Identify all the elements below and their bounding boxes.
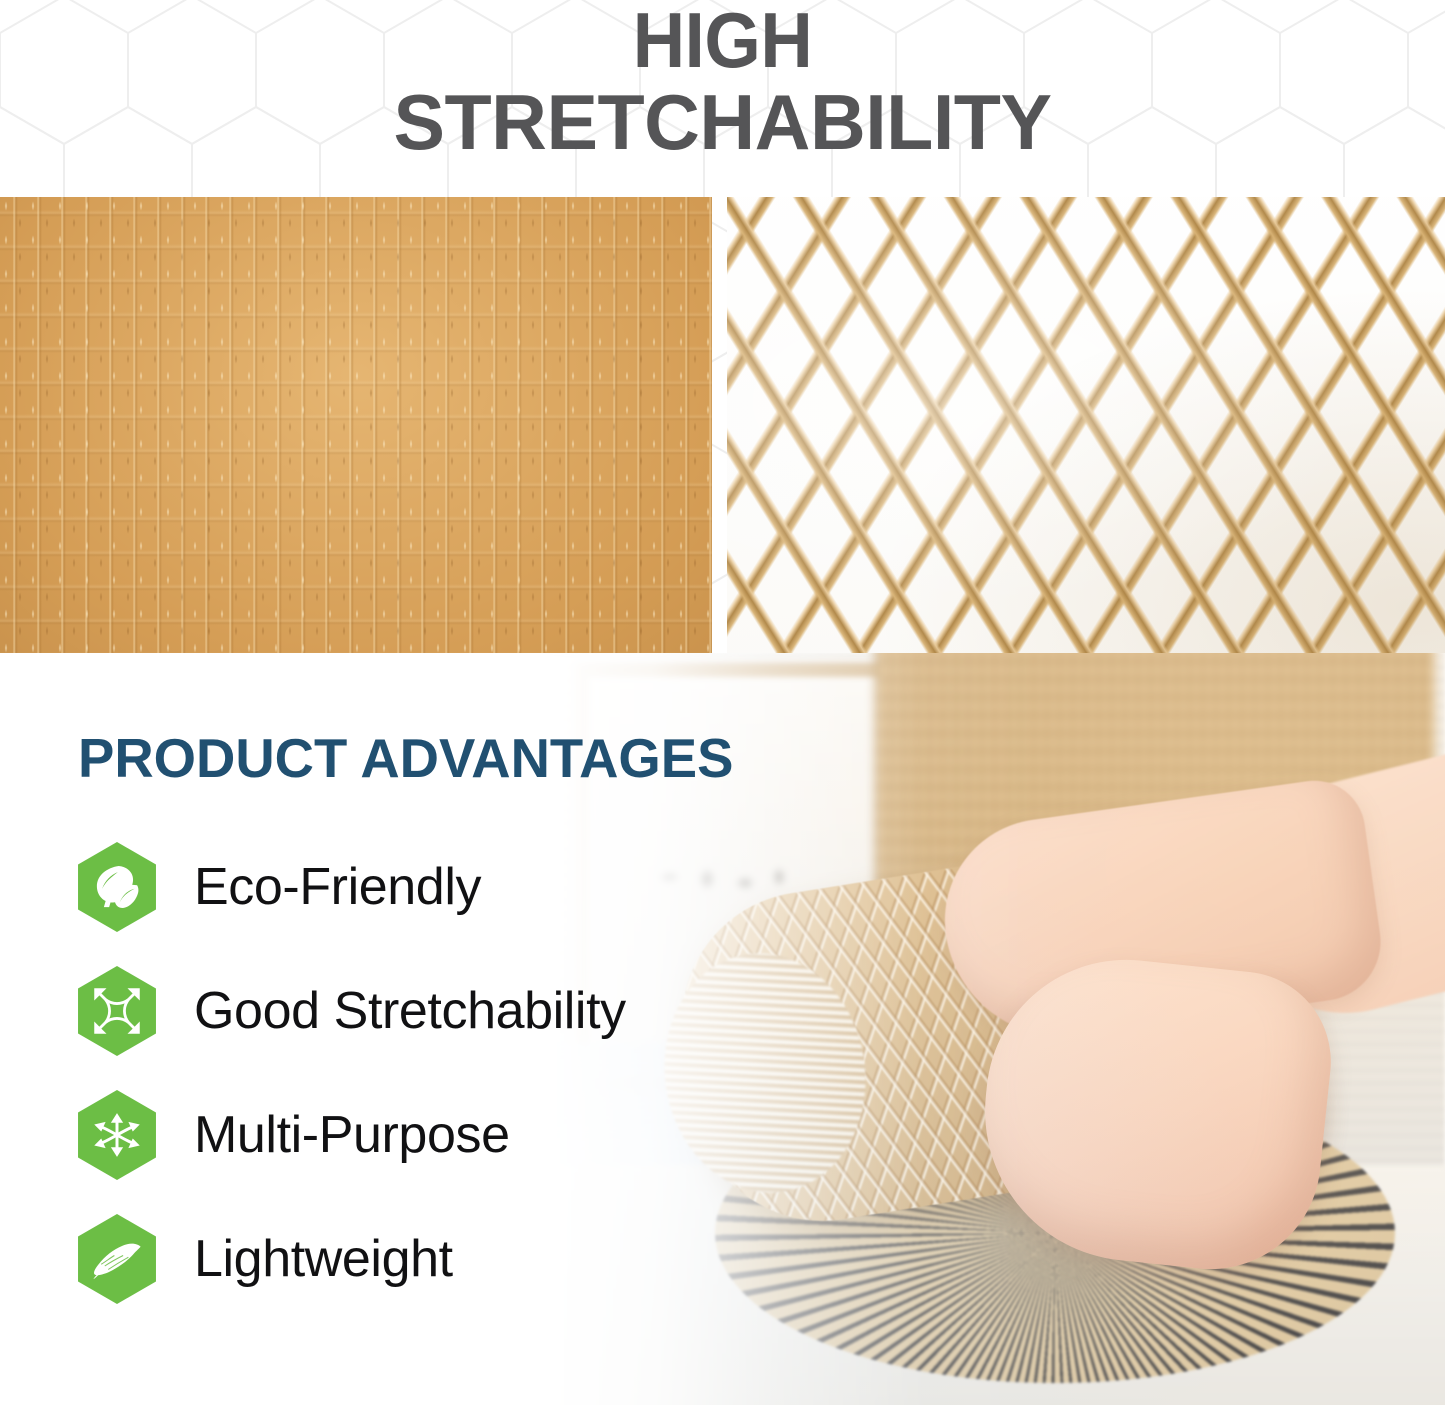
advantages-feature-list: Eco-Friendly (72, 825, 1052, 1321)
product-infographic-page: HIGH STRETCHABILITY (0, 0, 1445, 1405)
feature-badge (72, 966, 162, 1056)
stretched-honeycomb-image (727, 197, 1445, 653)
feature-item-good-stretchability[interactable]: Good Stretchability (72, 949, 1052, 1073)
lattice-shading-overlay (727, 197, 1445, 653)
kraft-dimple-pattern (0, 197, 712, 653)
leaf-icon (89, 859, 145, 915)
multi-direction-arrows-icon (89, 1107, 145, 1163)
feature-label: Lightweight (194, 1233, 453, 1285)
advantages-heading: PRODUCT ADVANTAGES (78, 726, 733, 790)
page-title-line-1: HIGH (51, 2, 1395, 78)
header: HIGH STRETCHABILITY (0, 0, 1445, 197)
feature-item-lightweight[interactable]: Lightweight (72, 1197, 1052, 1321)
unstretched-honeycomb-image (0, 197, 712, 653)
feature-label: Eco-Friendly (194, 861, 481, 913)
feature-badge (72, 1214, 162, 1304)
expand-arrows-icon (89, 983, 145, 1039)
feather-icon (89, 1231, 145, 1287)
feature-badge (72, 1090, 162, 1180)
feature-badge (72, 842, 162, 932)
feature-label: Good Stretchability (194, 985, 626, 1037)
bottom-section: PRODUCT ADVANTAGES Eco-Friendly (0, 653, 1445, 1405)
feature-label: Multi-Purpose (194, 1109, 510, 1161)
feature-item-multi-purpose[interactable]: Multi-Purpose (72, 1073, 1052, 1197)
page-title-line-2: STRETCHABILITY (7, 84, 1438, 160)
feature-item-eco-friendly[interactable]: Eco-Friendly (72, 825, 1052, 949)
